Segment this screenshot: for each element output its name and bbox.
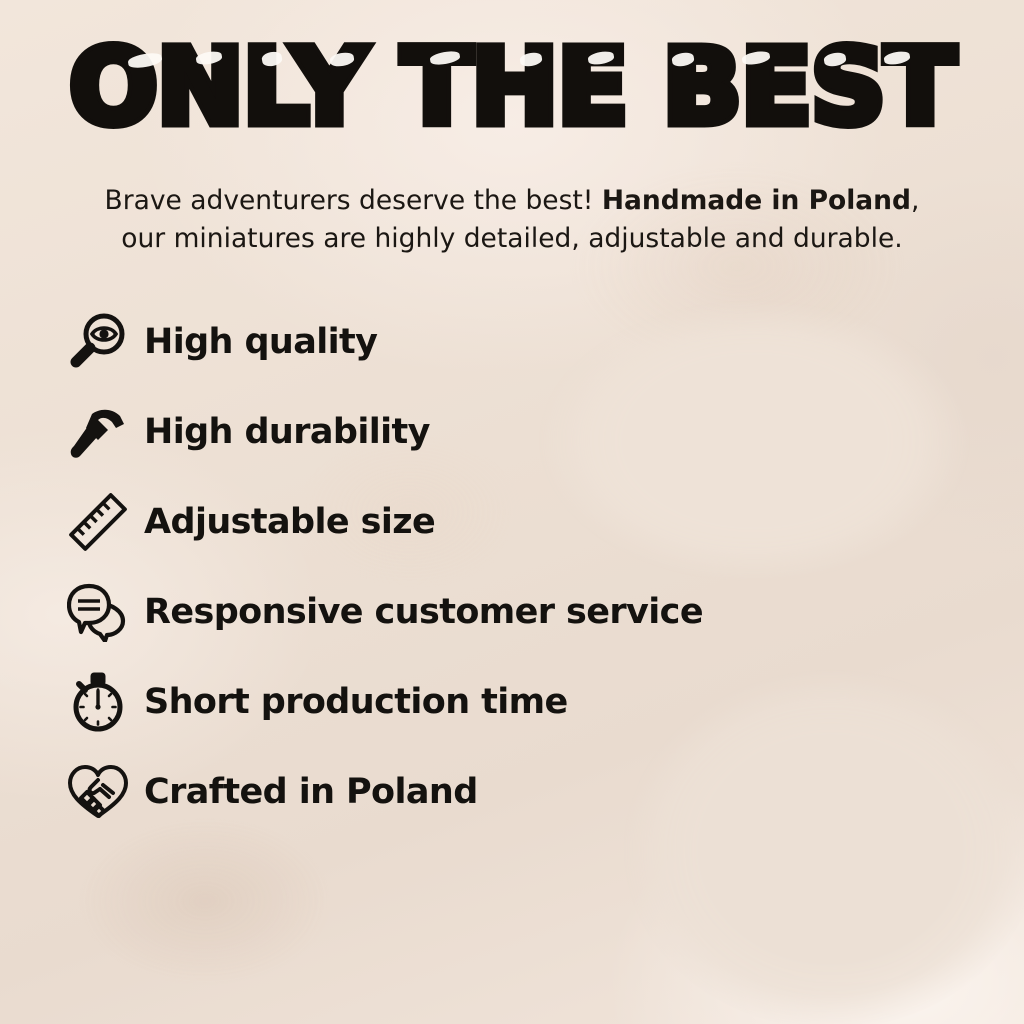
- feature-item-crafted-in-poland: Crafted in Poland: [62, 756, 762, 828]
- hammer-icon: [62, 399, 134, 465]
- stopwatch-icon: [62, 669, 134, 735]
- subtitle: Brave adventurers deserve the best! Hand…: [62, 182, 962, 257]
- page-title: ONLY THE BEST: [0, 34, 1024, 140]
- page-title-text: ONLY THE BEST: [69, 26, 954, 148]
- ruler-icon: [62, 489, 134, 555]
- feature-label: High quality: [144, 322, 377, 362]
- feature-item-high-durability: High durability: [62, 396, 762, 468]
- feature-item-adjustable-size: Adjustable size: [62, 486, 762, 558]
- feature-list: High quality High durability: [62, 306, 762, 846]
- magnifier-eye-icon: [62, 309, 134, 375]
- feature-label: High durability: [144, 412, 430, 452]
- speech-bubbles-icon: [62, 579, 134, 645]
- feature-item-high-quality: High quality: [62, 306, 762, 378]
- feature-label: Responsive customer service: [144, 592, 703, 632]
- feature-item-production-time: Short production time: [62, 666, 762, 738]
- subtitle-tail: ,: [911, 185, 919, 216]
- subtitle-lead: Brave adventurers deserve the best!: [105, 185, 602, 216]
- feature-item-customer-service: Responsive customer service: [62, 576, 762, 648]
- subtitle-emphasis: Handmade in Poland: [602, 185, 911, 216]
- feature-label: Adjustable size: [144, 502, 435, 542]
- right-fingertip: [855, 391, 957, 542]
- poster-canvas: ONLY THE BEST Brave adventurers deserve …: [0, 0, 1024, 1024]
- feature-label: Short production time: [144, 682, 568, 722]
- subtitle-line-2: our miniatures are highly detailed, adju…: [121, 223, 902, 254]
- heart-handshake-icon: [62, 759, 134, 825]
- feature-label: Crafted in Poland: [144, 772, 478, 812]
